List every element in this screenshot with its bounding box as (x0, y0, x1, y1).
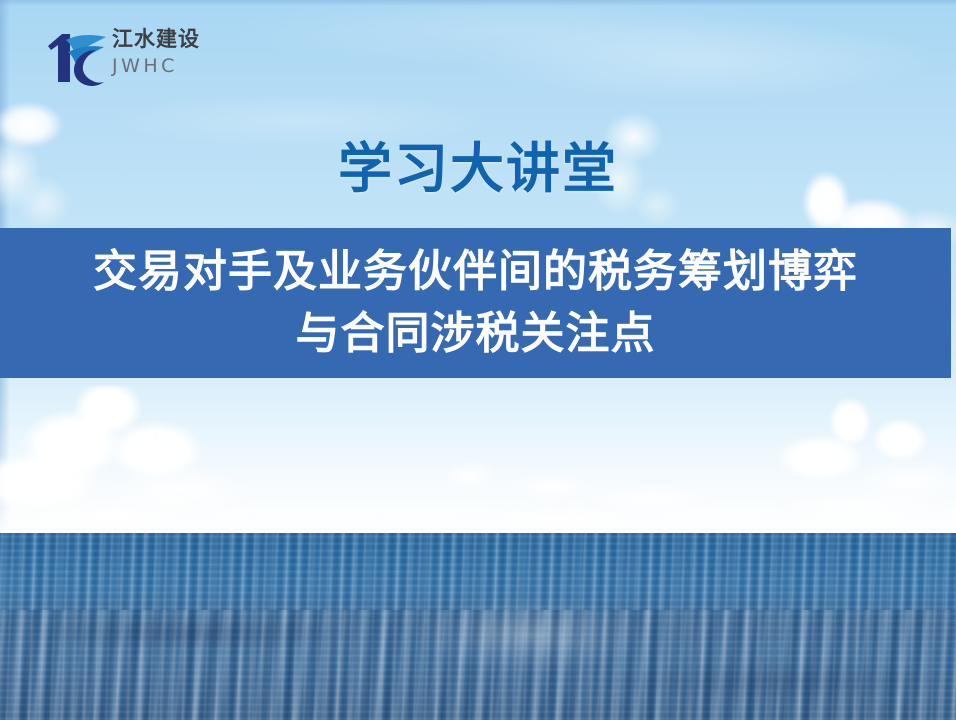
ocean-background (0, 533, 956, 720)
subject-banner: 交易对手及业务伙伴间的税务筹划博弈 与合同涉税关注点 (0, 228, 951, 378)
banner-line-2: 与合同涉税关注点 (296, 303, 656, 365)
cloud-cumulus-left (0, 386, 310, 534)
logo-company-name-cn: 江水建设 (112, 26, 238, 52)
company-logo: 江水建设 JWHC (44, 24, 239, 98)
top-edge-band (0, 0, 956, 6)
cloud-bank (0, 378, 956, 534)
logo-company-name-en: JWHC (112, 54, 238, 78)
cloud-cumulus-middle (400, 450, 740, 534)
logo-wordmark: 江水建设 JWHC (112, 26, 238, 90)
cloud-cumulus-right (760, 396, 956, 534)
banner-line-1: 交易对手及业务伙伴间的税务筹划博弈 (93, 241, 858, 303)
jwhc-logo-mark-icon (44, 26, 110, 90)
ocean-ripples-near (0, 610, 956, 720)
page-title: 学习大讲堂 (0, 137, 956, 201)
presentation-slide: 江水建设 JWHC 学习大讲堂 交易对手及业务伙伴间的税务筹划博弈 与合同涉税关… (0, 0, 956, 720)
